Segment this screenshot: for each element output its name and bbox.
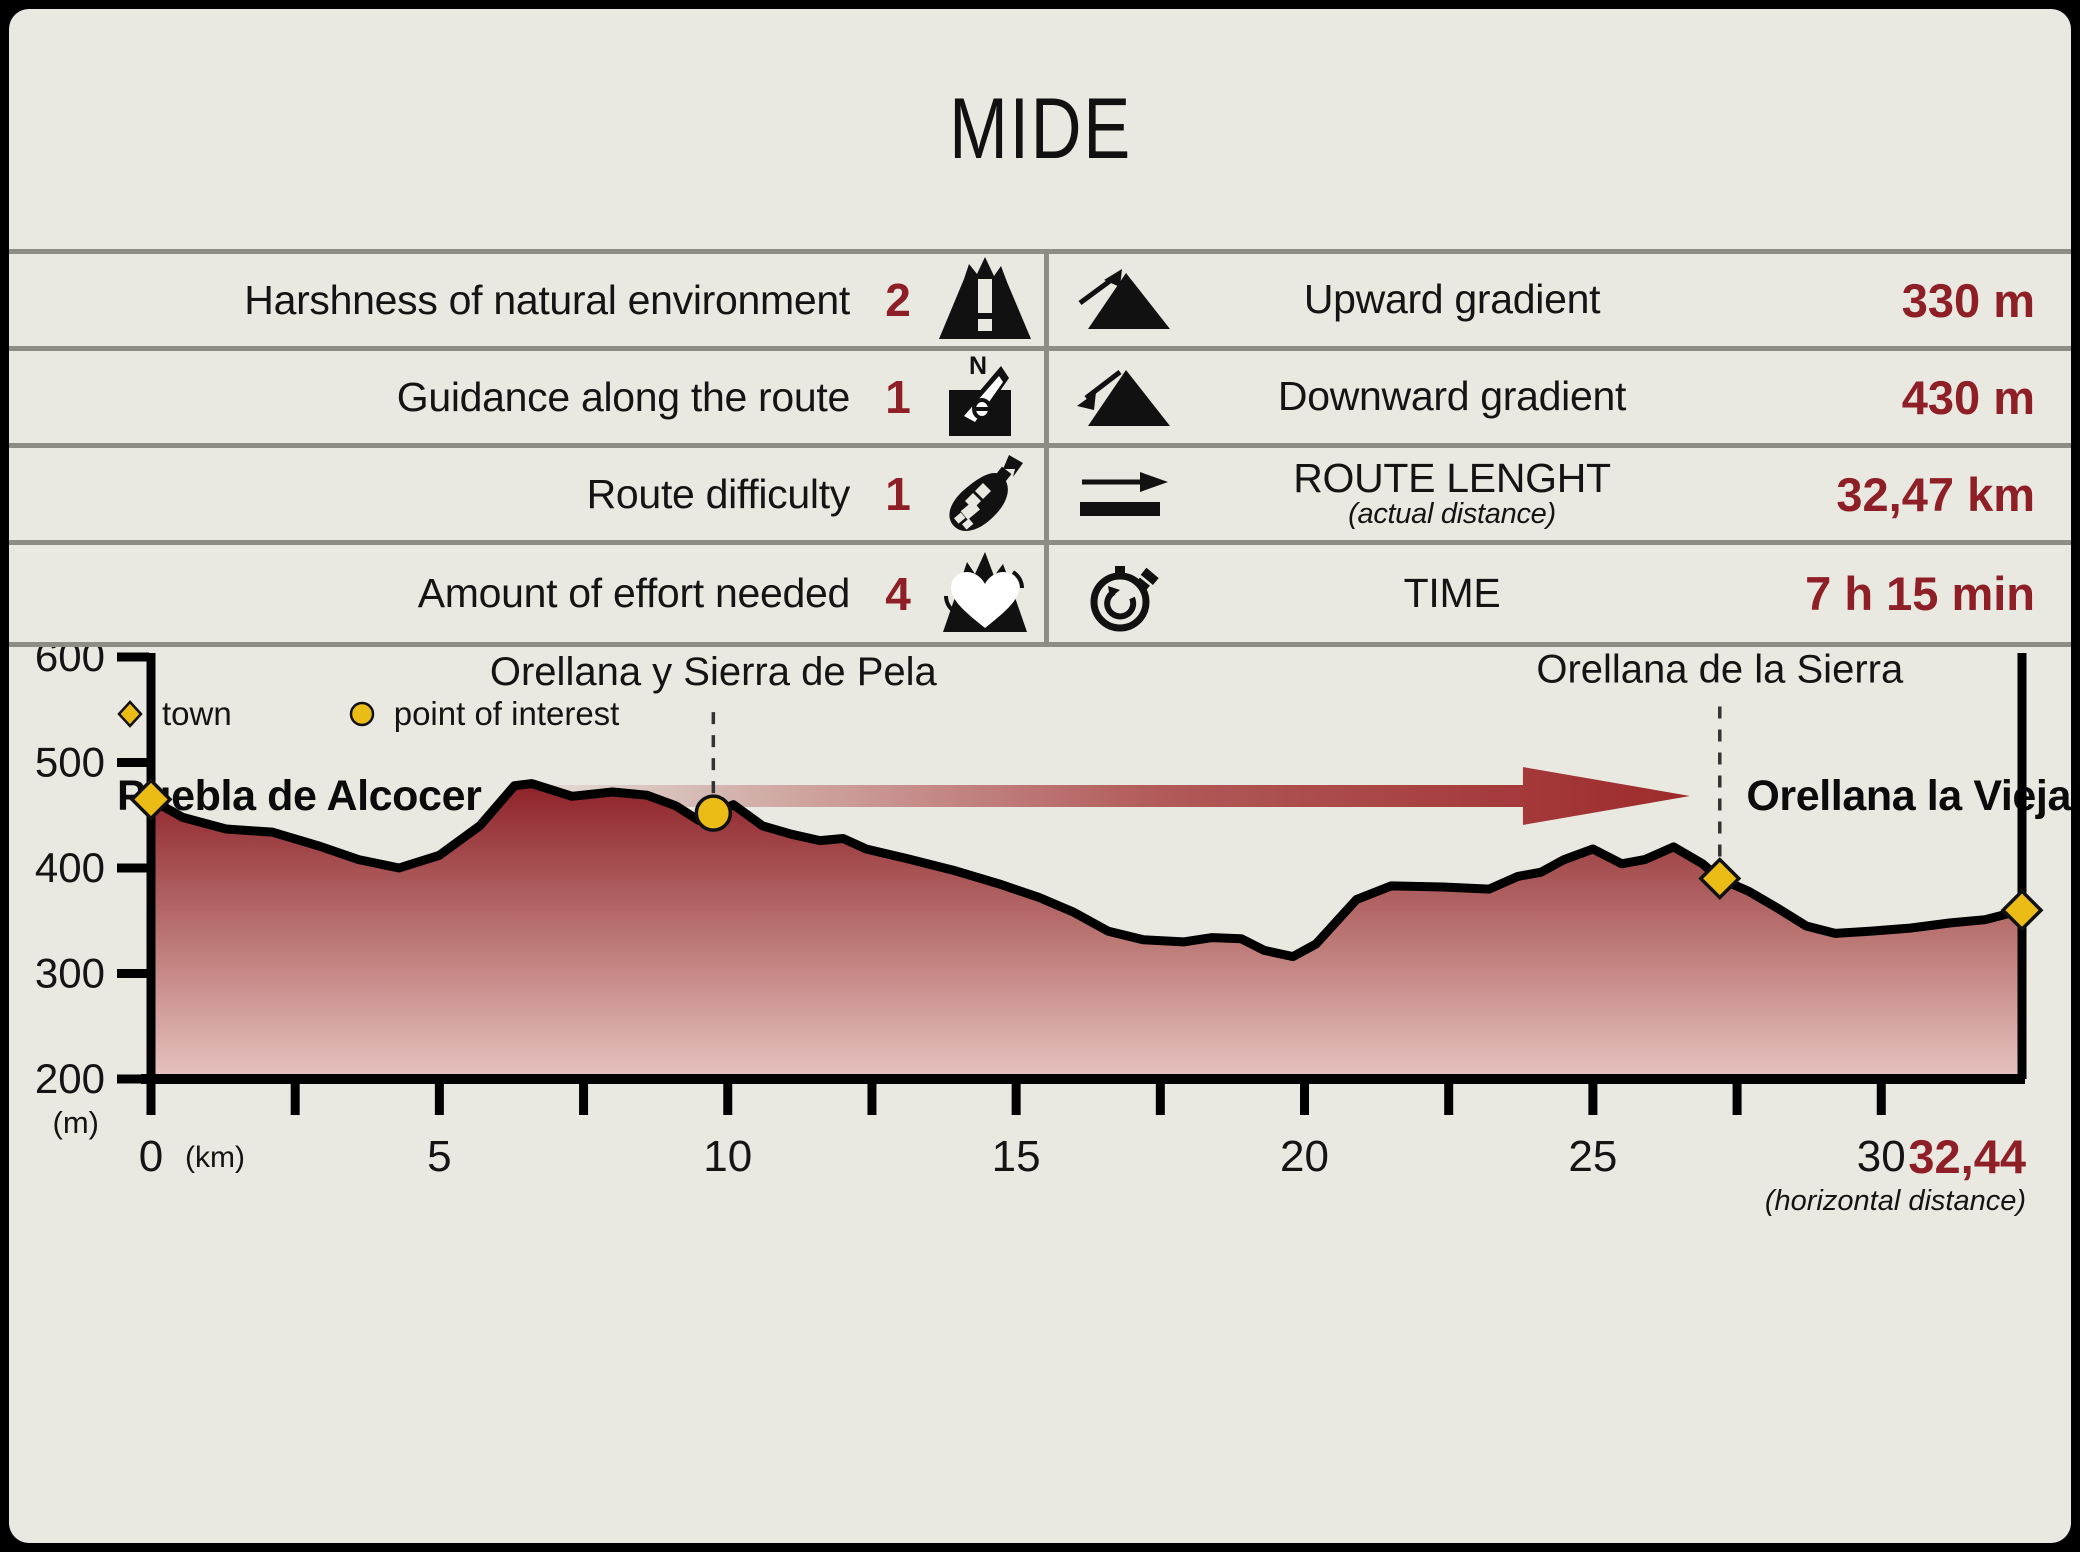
rating-row-effort: Amount of effort needed 4 xyxy=(9,545,1044,642)
y-tick-label: 300 xyxy=(35,950,105,997)
rating-value: 1 xyxy=(870,370,926,424)
elevation-chart-area: town point of interest Puebla de Alcocer xyxy=(9,647,2071,1477)
metric-value: 430 m xyxy=(1705,370,2071,425)
elevation-profile-plot: 600500400300200(m)051015202530(km)32,44(… xyxy=(9,647,2071,1477)
x-tick-label: 5 xyxy=(427,1132,451,1181)
rating-label: Route difficulty xyxy=(9,471,870,518)
stopwatch-icon xyxy=(1049,554,1199,634)
x-end-distance-label: 32,44 xyxy=(1908,1130,2026,1183)
x-axis-unit-label: (km) xyxy=(185,1141,245,1174)
metrics-column: Upward gradient 330 m Downward gradient xyxy=(1049,254,2071,642)
warning-triangle-icon xyxy=(926,257,1044,343)
metric-label-text: TIME xyxy=(1404,570,1501,616)
svg-text:N: N xyxy=(969,352,987,380)
rating-row-difficulty: Route difficulty 1 xyxy=(9,448,1044,545)
x-tick-label: 25 xyxy=(1568,1132,1617,1181)
rating-row-harshness: Harshness of natural environment 2 xyxy=(9,254,1044,351)
rating-value: 1 xyxy=(870,467,926,521)
rating-value: 4 xyxy=(870,567,926,621)
x-tick-label: 20 xyxy=(1280,1132,1329,1181)
mide-infographic-card: MIDE Harshness of natural environment 2 xyxy=(0,0,2080,1552)
y-tick-label: 400 xyxy=(35,844,105,891)
metric-row-downward: Downward gradient 430 m xyxy=(1049,351,2071,448)
rating-label: Guidance along the route xyxy=(9,374,870,421)
x-axis-note: (horizontal distance) xyxy=(1765,1185,2026,1217)
heart-mountain-icon xyxy=(926,550,1044,638)
title-bar: MIDE xyxy=(9,9,2071,249)
metric-label: TIME xyxy=(1199,573,1705,615)
rating-label: Harshness of natural environment xyxy=(9,277,870,324)
x-tick-label: 15 xyxy=(992,1132,1041,1181)
card-panel: MIDE Harshness of natural environment 2 xyxy=(9,9,2071,1543)
metric-value: 32,47 km xyxy=(1705,467,2071,522)
metric-label: ROUTE LENGHT (actual distance) xyxy=(1199,458,1705,529)
profile-area xyxy=(151,784,2022,1079)
page-title: MIDE xyxy=(949,80,1132,179)
y-tick-label: 200 xyxy=(35,1055,105,1102)
distance-arrow-icon xyxy=(1049,464,1199,524)
metric-label: Upward gradient xyxy=(1199,279,1705,321)
metric-row-upward: Upward gradient 330 m xyxy=(1049,254,2071,351)
metric-value: 330 m xyxy=(1705,273,2071,328)
boot-sole-icon xyxy=(926,449,1044,539)
downhill-mountain-icon xyxy=(1049,364,1199,430)
annotation-label: Orellana de la Sierra xyxy=(1536,648,1904,692)
rating-row-guidance: Guidance along the route 1 N xyxy=(9,351,1044,448)
ratings-column: Harshness of natural environment 2 Guida… xyxy=(9,254,1044,642)
y-tick-label: 500 xyxy=(35,739,105,786)
metric-row-time: TIME 7 h 15 min xyxy=(1049,545,2071,642)
mide-table: Harshness of natural environment 2 Guida… xyxy=(9,254,2071,642)
metric-sublabel: (actual distance) xyxy=(1199,500,1705,530)
metric-label: Downward gradient xyxy=(1199,376,1705,418)
annotation-label: Orellana y Sierra de Pela xyxy=(490,650,938,694)
y-axis-unit-label: (m) xyxy=(53,1105,99,1140)
poi-marker-sci-spa xyxy=(696,796,730,830)
metric-label-text: Upward gradient xyxy=(1304,276,1600,322)
x-tick-label: 0 xyxy=(139,1132,163,1181)
metric-row-length: ROUTE LENGHT (actual distance) 32,47 km xyxy=(1049,448,2071,545)
rating-value: 2 xyxy=(870,273,926,327)
metric-value: 7 h 15 min xyxy=(1705,566,2071,621)
x-tick-label: 30 xyxy=(1857,1132,1906,1181)
y-tick-label: 600 xyxy=(35,647,105,680)
uphill-mountain-icon xyxy=(1049,267,1199,333)
metric-label-text: Downward gradient xyxy=(1278,373,1626,419)
x-tick-label: 10 xyxy=(703,1132,752,1181)
rating-label: Amount of effort needed xyxy=(9,570,870,617)
compass-icon: N xyxy=(926,352,1044,442)
metric-label-text: ROUTE LENGHT xyxy=(1293,455,1611,501)
